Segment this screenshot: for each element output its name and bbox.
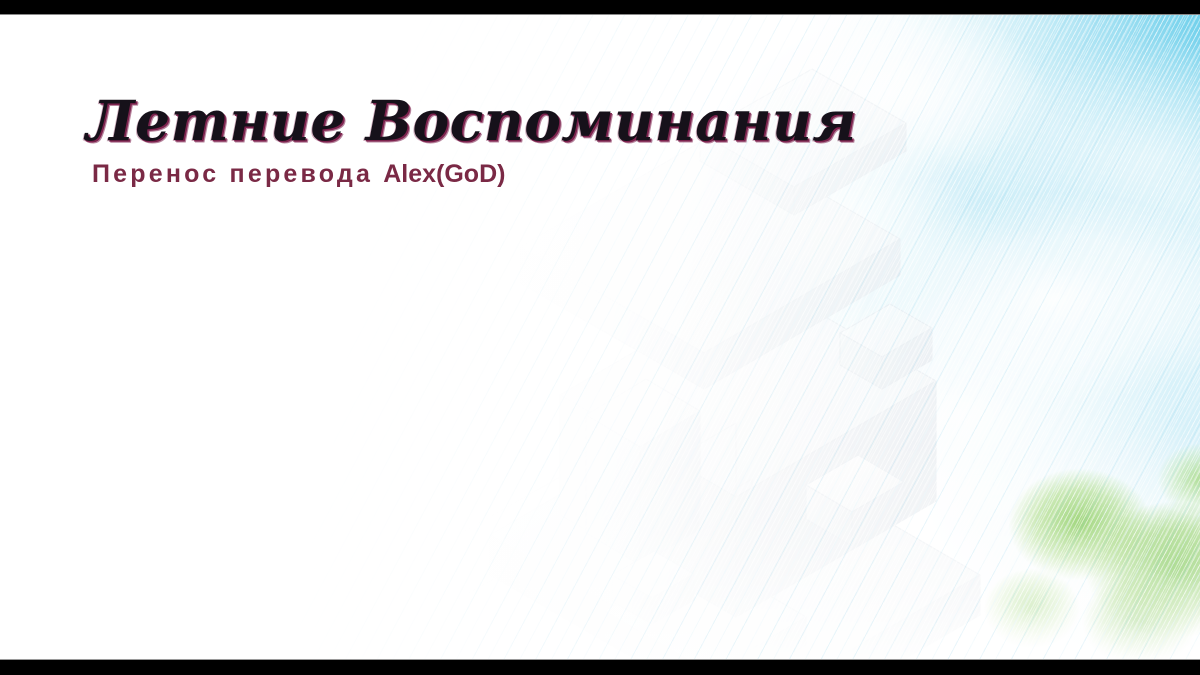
title-text-block: Летние Воспоминания Перенос перевода Ale… xyxy=(86,93,857,189)
subtitle-credit-name: Alex(GoD) xyxy=(383,160,505,188)
page-title: Летние Воспоминания xyxy=(86,93,857,148)
letterbox-bar-bottom xyxy=(0,659,1200,675)
subtitle: Перенос перевода Alex(GoD) xyxy=(92,160,857,189)
subtitle-cyrillic-part: Перенос перевода xyxy=(92,160,383,188)
title-card-frame: Летние Воспоминания Перенос перевода Ale… xyxy=(0,0,1200,675)
letterbox-bar-top xyxy=(0,0,1200,15)
slide-canvas: Летние Воспоминания Перенос перевода Ale… xyxy=(0,15,1200,660)
